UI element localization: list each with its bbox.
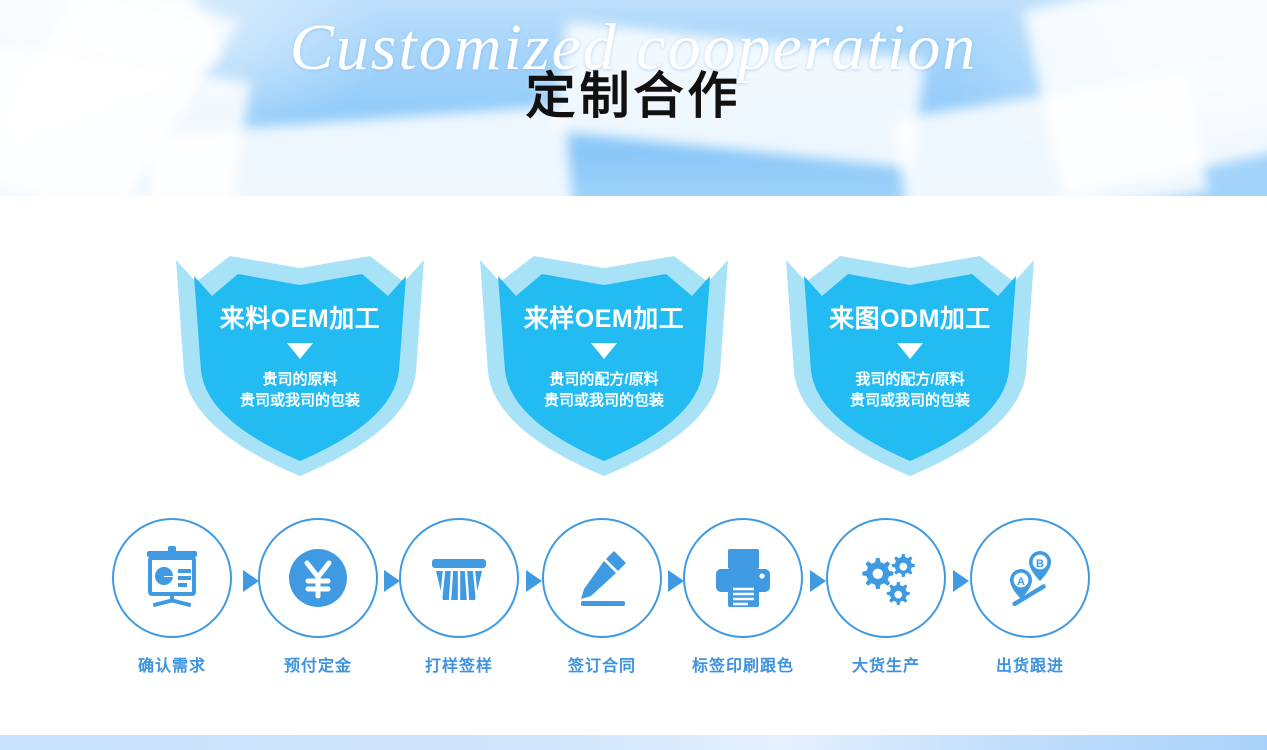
shield-title: 来图ODM加工	[829, 304, 991, 334]
shield-content: 来样OEM加工 贵司的配方/原料 贵司或我司的包装	[474, 252, 734, 480]
step-label: 大货生产	[826, 652, 946, 676]
down-triangle-icon	[591, 343, 617, 359]
process-step[interactable]: 标签印刷跟色	[683, 518, 803, 676]
sample-basket-icon	[424, 543, 494, 613]
right-triangle-arrow-icon	[668, 570, 684, 592]
down-triangle-icon	[287, 343, 313, 359]
shield-subtitle-line2: 贵司或我司的包装	[240, 390, 360, 411]
shield-subtitle: 贵司的配方/原料 贵司或我司的包装	[544, 369, 664, 411]
shield-title: 来料OEM加工	[220, 304, 380, 334]
presentation-board-icon	[137, 543, 207, 613]
step-icon-circle	[542, 518, 662, 638]
process-step[interactable]: B A 出货跟进	[970, 518, 1090, 676]
process-flow: 确认需求 预付定金	[0, 518, 1267, 678]
process-step[interactable]: 打样签样	[399, 518, 519, 676]
route-a-to-b-icon: B A	[995, 543, 1065, 613]
shield-card: 来样OEM加工 贵司的配方/原料 贵司或我司的包装	[474, 252, 734, 480]
right-triangle-arrow-icon	[810, 570, 826, 592]
step-icon-circle	[399, 518, 519, 638]
step-icon-circle	[826, 518, 946, 638]
process-step[interactable]: 预付定金	[258, 518, 378, 676]
pencil-sign-icon	[567, 543, 637, 613]
right-triangle-arrow-icon	[243, 570, 259, 592]
down-triangle-icon	[897, 343, 923, 359]
step-icon-circle: B A	[970, 518, 1090, 638]
pin-a-label: A	[1017, 576, 1025, 588]
shield-subtitle-line1: 贵司的原料	[240, 369, 360, 390]
banner-title-chinese: 定制合作	[0, 66, 1267, 126]
shield-card: 来料OEM加工 贵司的原料 贵司或我司的包装	[170, 252, 430, 480]
page-root: Customized cooperation 定制合作 来料OEM加工 贵司的原…	[0, 0, 1267, 750]
step-icon-circle	[112, 518, 232, 638]
process-step[interactable]: 大货生产	[826, 518, 946, 676]
footer-strip	[0, 735, 1267, 750]
shield-subtitle: 我司的配方/原料 贵司或我司的包装	[850, 369, 970, 411]
printer-icon	[708, 543, 778, 613]
yen-coin-icon	[283, 543, 353, 613]
right-triangle-arrow-icon	[526, 570, 542, 592]
right-triangle-arrow-icon	[953, 570, 969, 592]
shield-card: 来图ODM加工 我司的配方/原料 贵司或我司的包装	[780, 252, 1040, 480]
shield-subtitle-line2: 贵司或我司的包装	[544, 390, 664, 411]
shield-subtitle-line2: 贵司或我司的包装	[850, 390, 970, 411]
step-label: 标签印刷跟色	[683, 652, 803, 676]
shield-card-group: 来料OEM加工 贵司的原料 贵司或我司的包装 来样OEM加工 贵司的配方/原料 …	[0, 252, 1267, 480]
step-icon-circle	[258, 518, 378, 638]
shield-subtitle-line1: 贵司的配方/原料	[544, 369, 664, 390]
shield-subtitle-line1: 我司的配方/原料	[850, 369, 970, 390]
pin-b-label: B	[1036, 558, 1044, 570]
step-label: 预付定金	[258, 652, 378, 676]
process-step[interactable]: 签订合同	[542, 518, 662, 676]
shield-subtitle: 贵司的原料 贵司或我司的包装	[240, 369, 360, 411]
step-label: 确认需求	[112, 652, 232, 676]
gears-icon	[851, 543, 921, 613]
step-label: 打样签样	[399, 652, 519, 676]
shield-content: 来图ODM加工 我司的配方/原料 贵司或我司的包装	[780, 252, 1040, 480]
step-label: 出货跟进	[970, 652, 1090, 676]
header-banner: Customized cooperation 定制合作	[0, 0, 1267, 196]
step-label: 签订合同	[542, 652, 662, 676]
shield-title: 来样OEM加工	[524, 304, 684, 334]
right-triangle-arrow-icon	[384, 570, 400, 592]
shield-content: 来料OEM加工 贵司的原料 贵司或我司的包装	[170, 252, 430, 480]
step-icon-circle	[683, 518, 803, 638]
process-step[interactable]: 确认需求	[112, 518, 232, 676]
